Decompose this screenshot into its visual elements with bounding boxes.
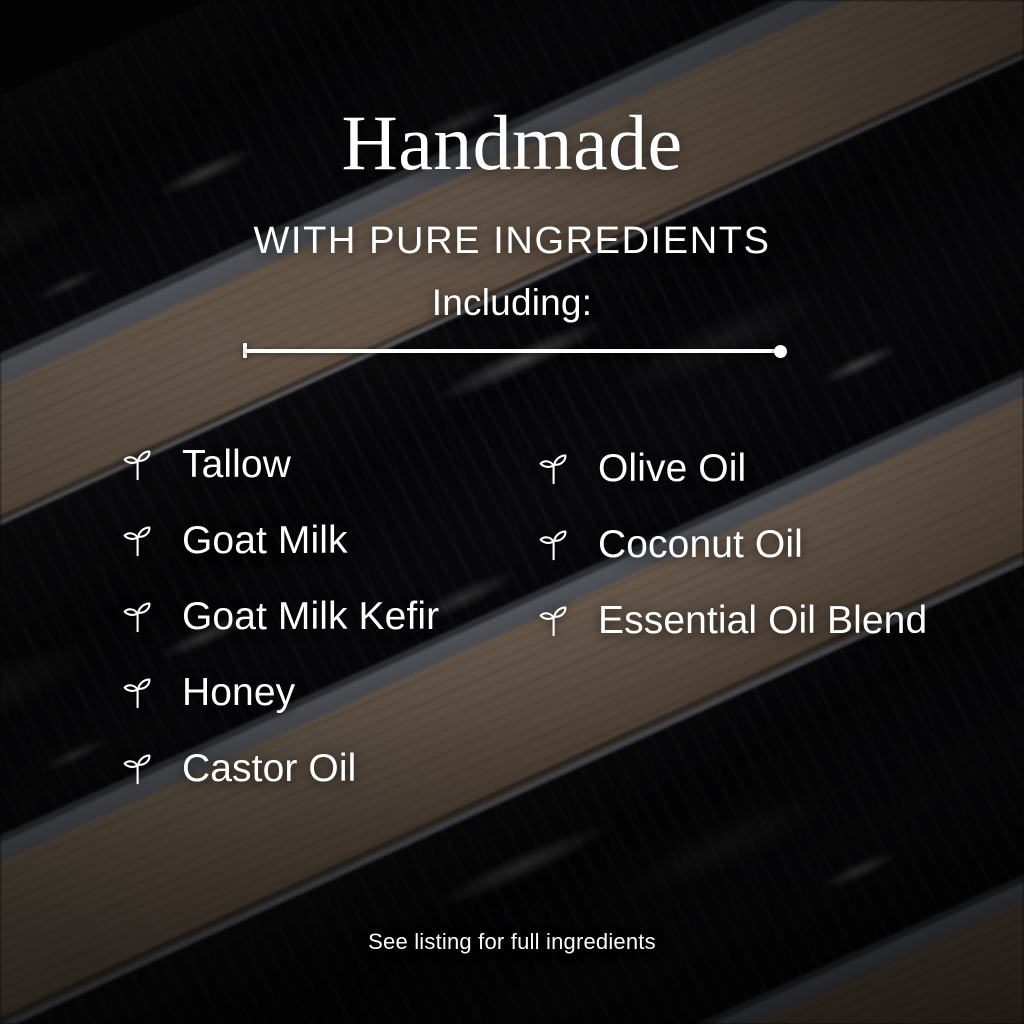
list-item-label: Coconut Oil (598, 525, 803, 564)
list-item-label: Tallow (182, 445, 291, 484)
ingredient-column-left: Tallow Goat Milk (118, 426, 439, 806)
list-item-label: Honey (182, 673, 295, 712)
list-item: Olive Oil (534, 430, 927, 506)
divider-line (245, 349, 781, 353)
footnote: See listing for full ingredients (0, 931, 1024, 953)
product-graphic: Handmade WITH PURE INGREDIENTS Including… (0, 0, 1024, 1024)
list-item-label: Olive Oil (598, 449, 746, 488)
sprout-icon (534, 448, 574, 488)
sprout-icon (534, 524, 574, 564)
list-item: Goat Milk Kefir (118, 578, 439, 654)
subtitle: WITH PURE INGREDIENTS (0, 222, 1024, 260)
list-item-label: Goat Milk (182, 521, 348, 560)
sprout-icon (118, 748, 158, 788)
sprout-icon (534, 600, 574, 640)
list-item-label: Essential Oil Blend (598, 601, 927, 640)
list-item: Goat Milk (118, 502, 439, 578)
sprout-icon (118, 520, 158, 560)
list-item: Essential Oil Blend (534, 582, 927, 658)
divider-end-dot (774, 345, 787, 358)
text-overlay: Handmade WITH PURE INGREDIENTS Including… (0, 0, 1024, 1024)
list-item-label: Goat Milk Kefir (182, 597, 439, 636)
list-item: Honey (118, 654, 439, 730)
list-item: Coconut Oil (534, 506, 927, 582)
sprout-icon (118, 444, 158, 484)
list-item: Tallow (118, 426, 439, 502)
divider (241, 342, 787, 360)
list-item: Castor Oil (118, 730, 439, 806)
including-label: Including: (0, 284, 1024, 321)
sprout-icon (118, 672, 158, 712)
ingredient-column-right: Olive Oil Coconut Oil (534, 430, 927, 658)
list-item-label: Castor Oil (182, 749, 356, 788)
sprout-icon (118, 596, 158, 636)
page-title: Handmade (0, 104, 1024, 182)
